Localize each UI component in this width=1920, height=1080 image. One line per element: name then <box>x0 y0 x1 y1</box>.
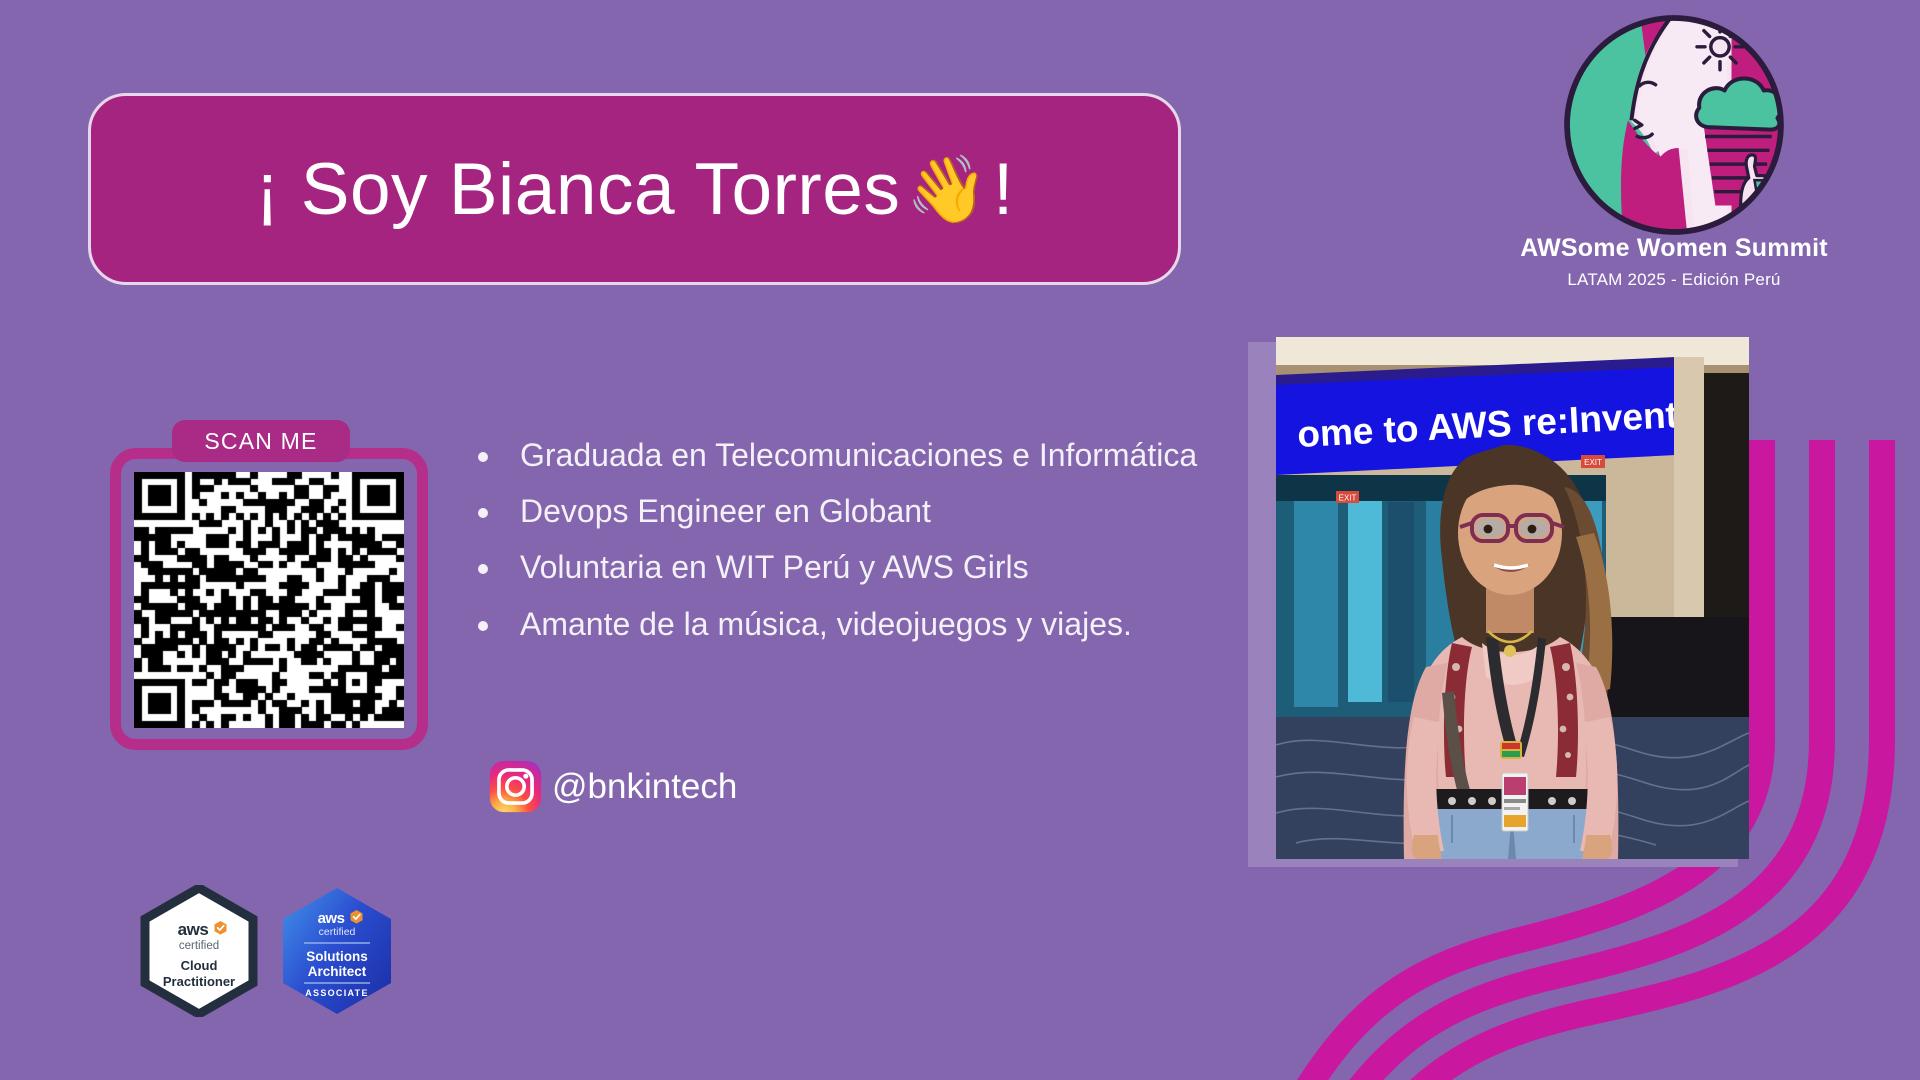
list-item-label: Amante de la música, videojuegos y viaje… <box>520 599 1198 649</box>
qr-code-image[interactable] <box>134 472 404 728</box>
awsome-women-summit-logo-icon <box>1559 10 1789 240</box>
bullet-dot-icon <box>478 452 488 462</box>
svg-text:Solutions: Solutions <box>306 949 368 964</box>
qr-code-block[interactable]: SCAN ME <box>110 420 428 750</box>
brand-name: AWSome Women Summit <box>1464 234 1884 263</box>
list-item: Devops Engineer en Globant <box>478 486 1198 536</box>
brand-edition: LATAM 2025 - Edición Perú <box>1464 270 1884 290</box>
speaker-photo: ome to AWS re:Invent EXIT <box>1276 337 1749 859</box>
page-title: ¡ Soy Bianca Torres 👋 ! <box>255 153 1014 226</box>
instagram-icon[interactable] <box>489 760 542 813</box>
svg-text:Practitioner: Practitioner <box>163 974 235 989</box>
svg-text:certified: certified <box>319 926 356 938</box>
waving-hand-icon: 👋 <box>906 156 989 222</box>
title-prefix: ¡ Soy Bianca Torres <box>255 153 900 226</box>
social-handle[interactable]: @bnkintech <box>489 760 737 813</box>
aws-cloud-practitioner-badge-icon: aws certified Cloud Practitioner <box>140 885 258 1017</box>
svg-text:aws: aws <box>178 920 209 939</box>
svg-text:Architect: Architect <box>308 964 367 979</box>
slide-title-banner: ¡ Soy Bianca Torres 👋 ! <box>88 93 1181 285</box>
social-handle-label[interactable]: @bnkintech <box>552 767 737 807</box>
svg-text:Cloud: Cloud <box>181 958 218 973</box>
event-branding: AWSome Women Summit LATAM 2025 - Edición… <box>1464 10 1884 290</box>
svg-text:EXIT: EXIT <box>1584 458 1602 467</box>
svg-text:EXIT: EXIT <box>1339 494 1357 503</box>
list-item: Voluntaria en WIT Perú y AWS Girls <box>478 542 1198 592</box>
bullet-dot-icon <box>478 621 488 631</box>
list-item: Amante de la música, videojuegos y viaje… <box>478 599 1198 649</box>
scan-me-badge: SCAN ME <box>172 420 350 462</box>
bio-bullet-list: Graduada en Telecomunicaciones e Informá… <box>478 430 1198 655</box>
scan-me-label: SCAN ME <box>204 428 317 455</box>
title-suffix: ! <box>993 153 1014 226</box>
svg-text:ASSOCIATE: ASSOCIATE <box>305 988 369 998</box>
svg-text:certified: certified <box>179 940 219 952</box>
presentation-slide: ¡ Soy Bianca Torres 👋 ! <box>0 0 1920 1080</box>
bullet-dot-icon <box>478 508 488 518</box>
bullet-dot-icon <box>478 564 488 574</box>
list-item-label: Voluntaria en WIT Perú y AWS Girls <box>520 542 1198 592</box>
list-item: Graduada en Telecomunicaciones e Informá… <box>478 430 1198 480</box>
svg-text:aws: aws <box>318 910 345 927</box>
aws-solutions-architect-associate-badge-icon: aws certified Solutions Architect ASSOCI… <box>278 885 396 1017</box>
list-item-label: Graduada en Telecomunicaciones e Informá… <box>520 430 1198 480</box>
speaker-photo-block: ome to AWS re:Invent EXIT <box>1248 342 1738 712</box>
list-item-label: Devops Engineer en Globant <box>520 486 1198 536</box>
certification-badges: aws certified Cloud Practitioner aws <box>140 885 396 1017</box>
